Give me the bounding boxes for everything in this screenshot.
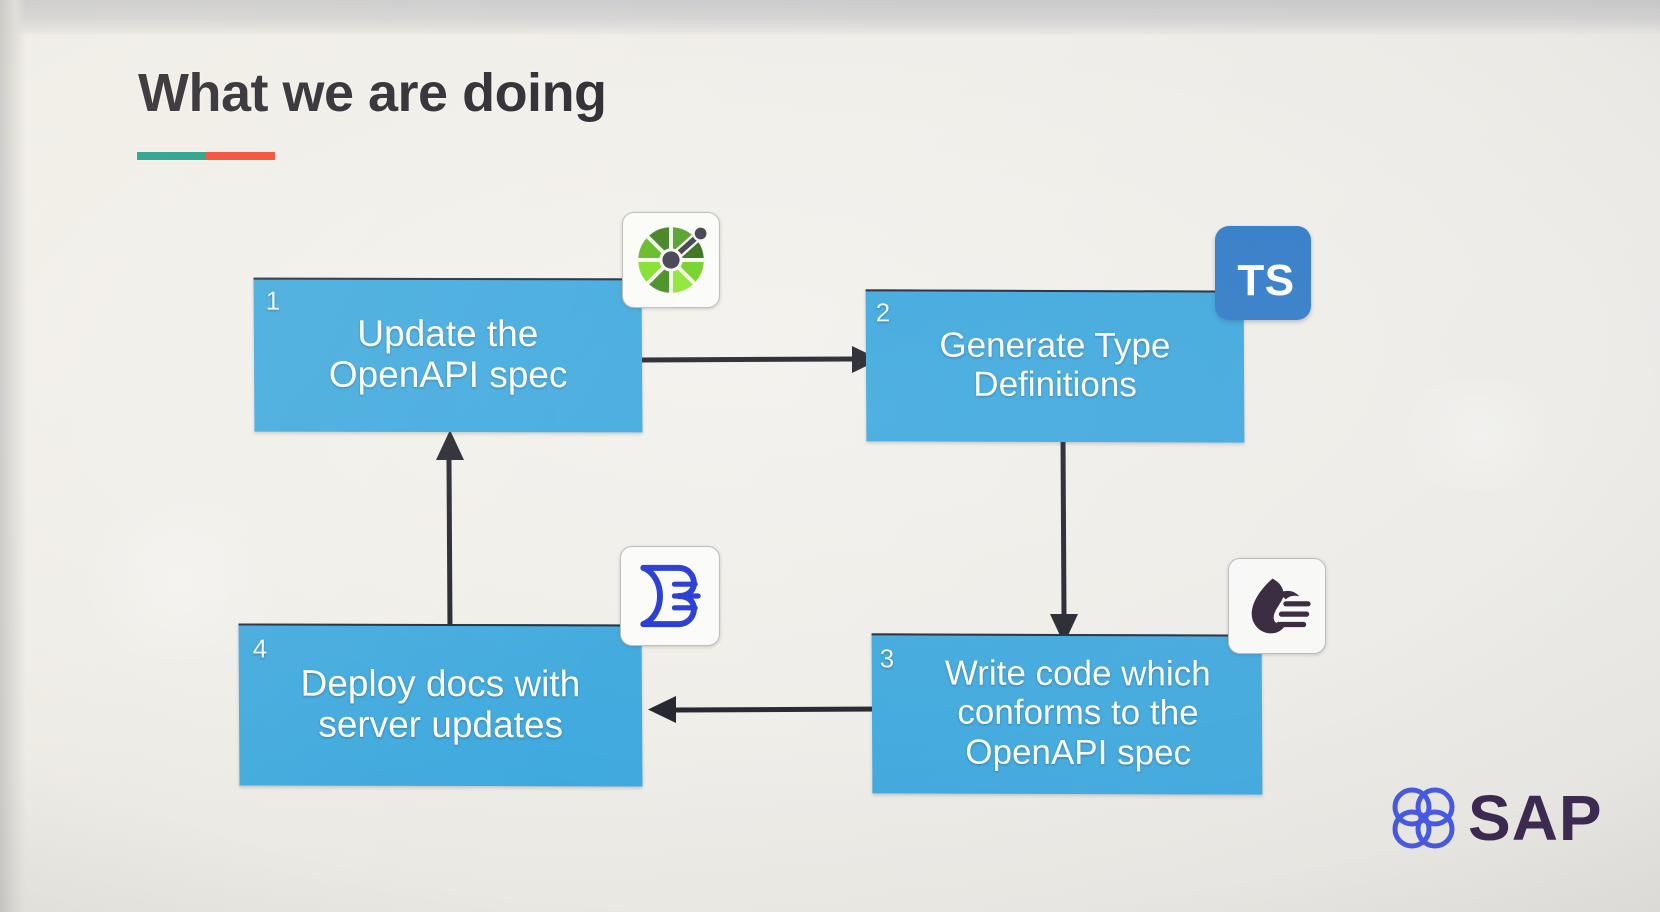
step-label-2: Generate Type Definitions	[939, 325, 1170, 404]
step-3-line-3: OpenAPI spec	[965, 732, 1191, 772]
step-label-3: Write code which conforms to the OpenAPI…	[923, 654, 1211, 773]
screen-top-edge	[0, 0, 1660, 34]
step-2-line-2: Definitions	[973, 365, 1137, 405]
arrow-step4-to-step1	[428, 430, 472, 630]
title-accent-rule	[137, 152, 275, 160]
step-4-line-2: server updates	[318, 704, 563, 746]
typescript-logo-text: TS	[1237, 256, 1294, 306]
step-1-line-2: OpenAPI spec	[329, 354, 568, 395]
arrow-step1-to-step2	[640, 340, 880, 380]
swagger-logo-icon	[622, 212, 720, 308]
step-4-line-1: Deploy docs with	[300, 662, 580, 704]
arrow-step2-to-step3	[1042, 438, 1086, 644]
step-number-4: 4	[253, 636, 268, 662]
page-title: What we are doing	[138, 62, 607, 124]
step-number-2: 2	[876, 299, 891, 325]
slide-photo: What we are doing 1 Upd	[0, 0, 1660, 912]
process-step-2[interactable]: 2 Generate Type Definitions	[866, 289, 1245, 442]
step-number-1: 1	[266, 288, 281, 314]
hono-logo-icon	[1228, 558, 1326, 654]
step-label-1: Update the OpenAPI spec	[328, 312, 567, 395]
process-step-3[interactable]: 3 Write code which conforms to the OpenA…	[872, 633, 1263, 794]
sap-wordmark: SAP	[1468, 786, 1603, 850]
step-3-line-1: Write code which	[945, 654, 1211, 694]
process-step-1[interactable]: 1 Update the OpenAPI spec	[254, 278, 643, 433]
step-label-4: Deploy docs with server updates	[300, 662, 580, 746]
step-number-3: 3	[880, 645, 895, 671]
typescript-logo-icon: TS	[1215, 226, 1311, 320]
sap-brand-watermark: SAP	[1388, 785, 1603, 851]
sap-mark-icon	[1388, 785, 1458, 851]
title-rule-red-segment	[206, 152, 275, 160]
process-step-4[interactable]: 4 Deploy docs with server updates	[238, 623, 642, 786]
screen-left-edge	[0, 0, 26, 912]
step-1-line-1: Update the	[357, 312, 538, 353]
step-3-line-2: conforms to the	[957, 693, 1198, 733]
step-2-line-1: Generate Type	[939, 325, 1170, 365]
redoc-logo-icon	[620, 546, 720, 646]
arrow-step3-to-step4	[648, 690, 880, 730]
title-rule-teal-segment	[137, 152, 206, 160]
